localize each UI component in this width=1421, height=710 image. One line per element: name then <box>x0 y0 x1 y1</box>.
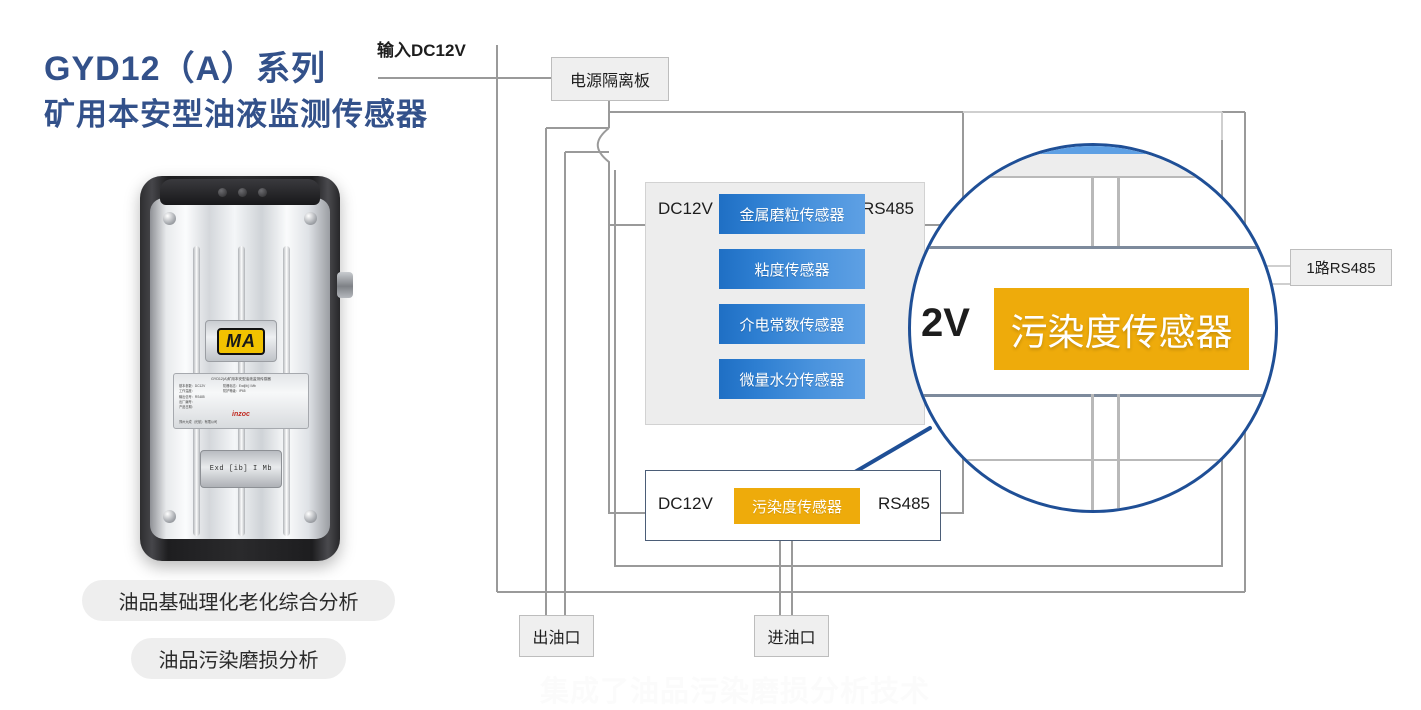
upper-module-power-pin: DC12V <box>658 199 713 219</box>
magnifier-callout: 2V 污染度传感器 <box>908 143 1278 513</box>
input-voltage-label: 输入DC12V <box>377 36 466 61</box>
sensor-dielectric-constant[interactable]: 介电常数传感器 <box>719 304 865 344</box>
magnified-voltage-fragment: 2V <box>921 301 970 346</box>
lower-sensor-module: DC12V RS485 污染度传感器 <box>645 470 941 541</box>
upper-module-comm-pin: RS485 <box>862 199 914 219</box>
system-block-diagram: 输入DC12V 电源隔离板 出油口 进油口 1路RS485 DC12V RS48… <box>0 0 1421 707</box>
magnified-rule <box>1117 394 1120 513</box>
rs485-output-label: 1路RS485 <box>1290 249 1392 286</box>
sensor-contamination[interactable]: 污染度传感器 <box>734 488 860 524</box>
magnified-rule <box>1091 394 1094 513</box>
sensor-trace-moisture[interactable]: 微量水分传感器 <box>719 359 865 399</box>
magnified-rule <box>1117 176 1120 248</box>
magnified-module-border <box>908 246 1278 249</box>
oil-inlet-port: 进油口 <box>754 615 829 657</box>
sensor-viscosity[interactable]: 粘度传感器 <box>719 249 865 289</box>
slide-canvas: GYD12（A）系列 矿用本安型油液监测传感器 MA GYD12(A)矿用本安型… <box>0 0 1421 707</box>
upper-sensor-module: DC12V RS485 金属磨粒传感器 粘度传感器 介电常数传感器 微量水分传感… <box>645 182 925 425</box>
magnified-gray-band <box>929 154 1263 176</box>
magnified-contamination-sensor: 污染度传感器 <box>994 288 1249 370</box>
power-isolation-board: 电源隔离板 <box>551 57 669 101</box>
oil-outlet-port: 出油口 <box>519 615 594 657</box>
magnifier-content: 2V 污染度传感器 <box>911 146 1278 513</box>
lower-module-power-pin: DC12V <box>658 494 713 514</box>
magnified-rule <box>908 459 1278 461</box>
magnified-rule <box>1091 176 1094 248</box>
sensor-metal-particle[interactable]: 金属磨粒传感器 <box>719 194 865 234</box>
